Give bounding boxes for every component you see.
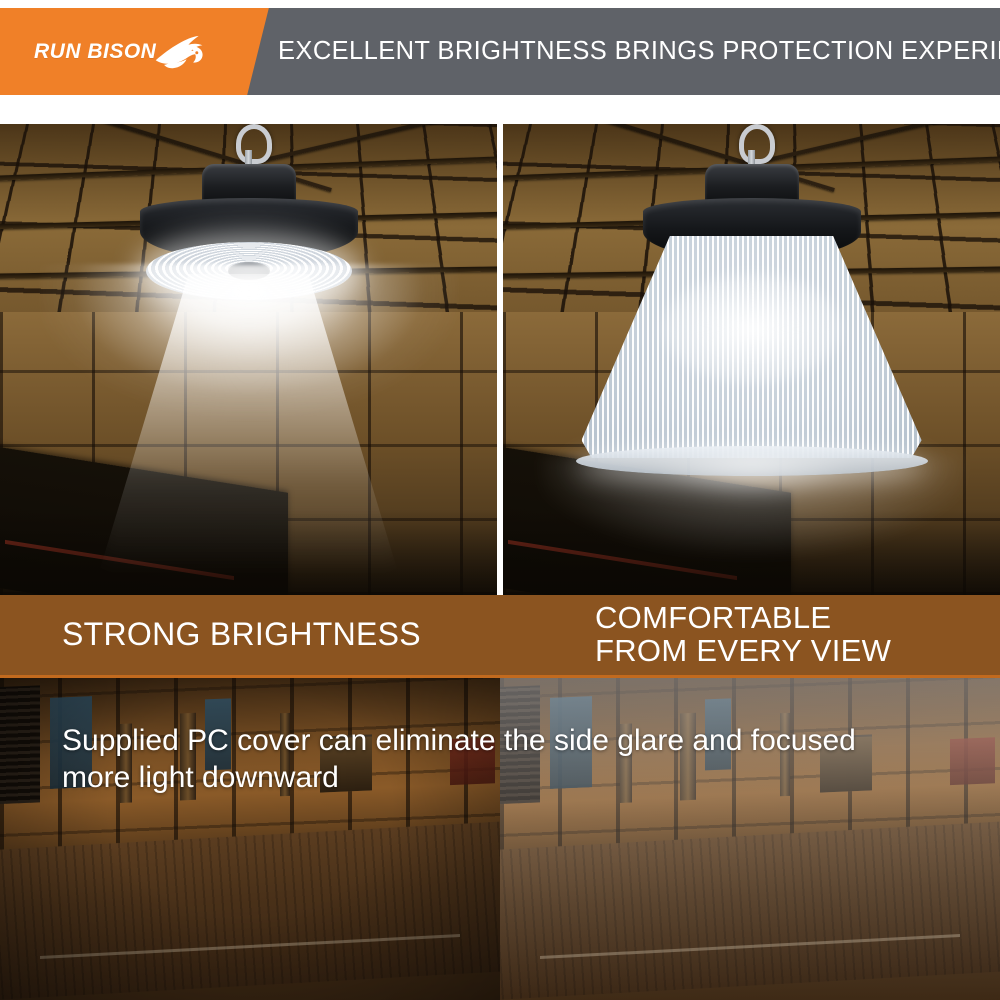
brand-name: RUN BISON [34,40,156,64]
roller-shutter [0,686,40,804]
footer-description: Supplied PC cover can eliminate the side… [62,722,942,796]
brand-lockup: RUN BISON [18,8,268,95]
footer-description-line: more light downward [62,759,942,796]
hanging-hook-icon [739,124,775,164]
photo-without-cover [0,124,497,595]
floor-shadow [0,510,497,595]
alley-ground [0,819,500,1000]
bison-head-icon [152,25,208,73]
caption-line: FROM EVERY VIEW [595,635,891,668]
diffused-inner-glow [662,274,842,384]
comparison-photo-row [0,124,1000,595]
caption-line: COMFORTABLE [595,602,891,635]
page-header: RUN BISON EXCELLENT BRIGHTNESS BRINGS PR… [0,0,1000,100]
caption-line: STRONG BRIGHTNESS [62,618,421,652]
hanging-hook-icon [236,124,272,164]
red-crate [950,737,995,785]
diffused-light-spill [542,454,962,595]
caption-comfortable-from-every-view: COMFORTABLE FROM EVERY VIEW [595,602,891,668]
caption-band: STRONG BRIGHTNESS COMFORTABLE FROM EVERY… [0,595,1000,675]
page-title: EXCELLENT BRIGHTNESS BRINGS PROTECTION E… [278,8,990,95]
alley-ground [500,819,1000,1000]
photo-with-cover [503,124,1000,595]
product-feature-page: RUN BISON EXCELLENT BRIGHTNESS BRINGS PR… [0,0,1000,1000]
caption-strong-brightness: STRONG BRIGHTNESS [62,618,421,652]
sensor-module [228,262,270,280]
logo: RUN BISON [34,31,208,73]
footer-description-line: Supplied PC cover can eliminate the side… [62,722,942,759]
section-divider [0,675,1000,678]
